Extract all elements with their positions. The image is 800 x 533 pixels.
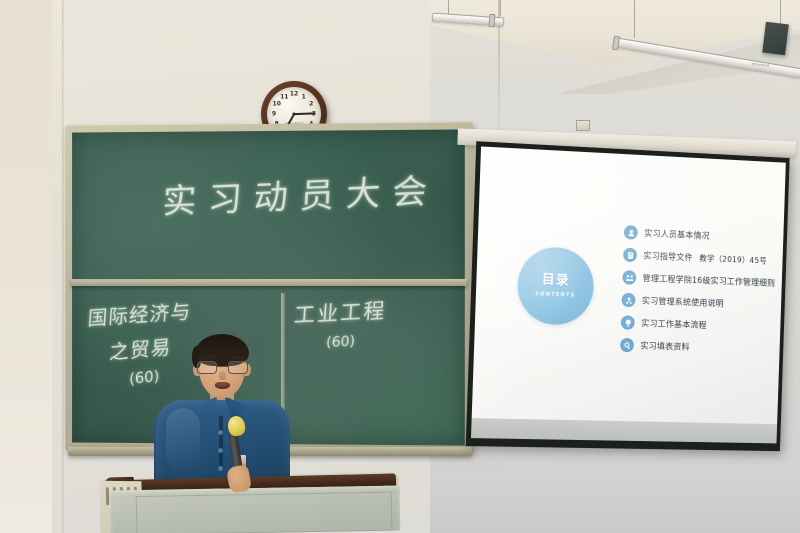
toc-badge-subtitle: CONTENTS [535, 291, 575, 298]
toc-item[interactable]: 实习管理系统使用说明 [622, 293, 775, 312]
lectern-front-panel [136, 492, 393, 533]
blackboard-middle-rail [71, 279, 467, 286]
presenter-mouth [215, 382, 230, 389]
toc-item[interactable]: 实习人员基本情况 [624, 225, 777, 245]
toc-item[interactable]: 实习指导文件教学（2019）45号 [623, 248, 776, 268]
toc-item[interactable]: 管理工程学院16级实习工作管理细则 [622, 270, 775, 289]
light-suspension-wire [634, 0, 635, 38]
slide-contents: 目录 CONTENTS 实习人员基本情况 [472, 146, 786, 426]
clock-numeral: 2 [309, 101, 313, 108]
toc-item-label: 实习管理系统使用说明 [642, 295, 724, 310]
toc-item-suffix: 教学（2019）45号 [699, 254, 767, 265]
toc-item-main: 实习指导文件 [643, 252, 693, 264]
clock-numeral: 1 [302, 93, 306, 100]
toc-item-label: 实习人员基本情况 [644, 227, 710, 242]
projector-screen: 目录 CONTENTS 实习人员基本情况 [466, 141, 790, 451]
wall-mounted-speaker [762, 22, 789, 56]
presenter-shirt-placket [219, 416, 223, 468]
blackboard-note-text: 国际经济与 [87, 295, 192, 331]
clock-numeral: 11 [280, 93, 288, 100]
person-icon [624, 225, 638, 239]
presenter [150, 330, 290, 490]
fluorescent-tube-cap [489, 14, 496, 27]
shirt-button [218, 448, 223, 453]
bulb-icon [621, 315, 635, 329]
people-icon [622, 270, 636, 284]
toc-item-label: 实习指导文件教学（2019）45号 [643, 250, 767, 267]
toc-item-list: 实习人员基本情况 实习指导文件教学（2019）45号 [620, 225, 777, 356]
toc-item-label: 管理工程学院16级实习工作管理细则 [642, 272, 775, 289]
toc-item-label: 实习填表资料 [640, 340, 690, 353]
clock-center-pin [293, 113, 296, 116]
shirt-button [218, 430, 223, 435]
toc-badge: 目录 CONTENTS [516, 246, 594, 326]
floor-strip [430, 470, 800, 533]
eyeglass-bridge [217, 366, 228, 367]
projected-slide: 目录 CONTENTS 实习人员基本情况 [472, 146, 786, 426]
toc-item-label: 实习工作基本流程 [641, 317, 707, 331]
blackboard-note-text: 工业工程 [293, 295, 388, 330]
clock-numeral: 10 [273, 101, 281, 108]
toc-badge-title: 目录 [542, 274, 571, 289]
eyeglass-lens [197, 361, 217, 374]
shirt-button [218, 466, 223, 471]
toc-item[interactable]: 实习填表资料 [620, 338, 773, 356]
clock-numeral: 9 [272, 111, 276, 118]
blackboard-title-text: 实习动员大会 [161, 163, 440, 223]
toc-item[interactable]: 实习工作基本流程 [621, 315, 774, 334]
search-icon [620, 338, 634, 352]
presenter-nose [219, 371, 226, 380]
clock-numeral: 12 [290, 91, 298, 98]
blackboard-note-text: (60) [326, 333, 356, 351]
classroom-photo: Hisense 12 1 2 3 4 5 6 7 8 9 10 11 QUART… [0, 0, 800, 533]
lectern-body [110, 485, 401, 533]
monitor-icon [622, 293, 636, 307]
eyeglass-lens [228, 361, 248, 374]
light-suspension-wire [500, 0, 501, 16]
document-icon [623, 248, 637, 262]
